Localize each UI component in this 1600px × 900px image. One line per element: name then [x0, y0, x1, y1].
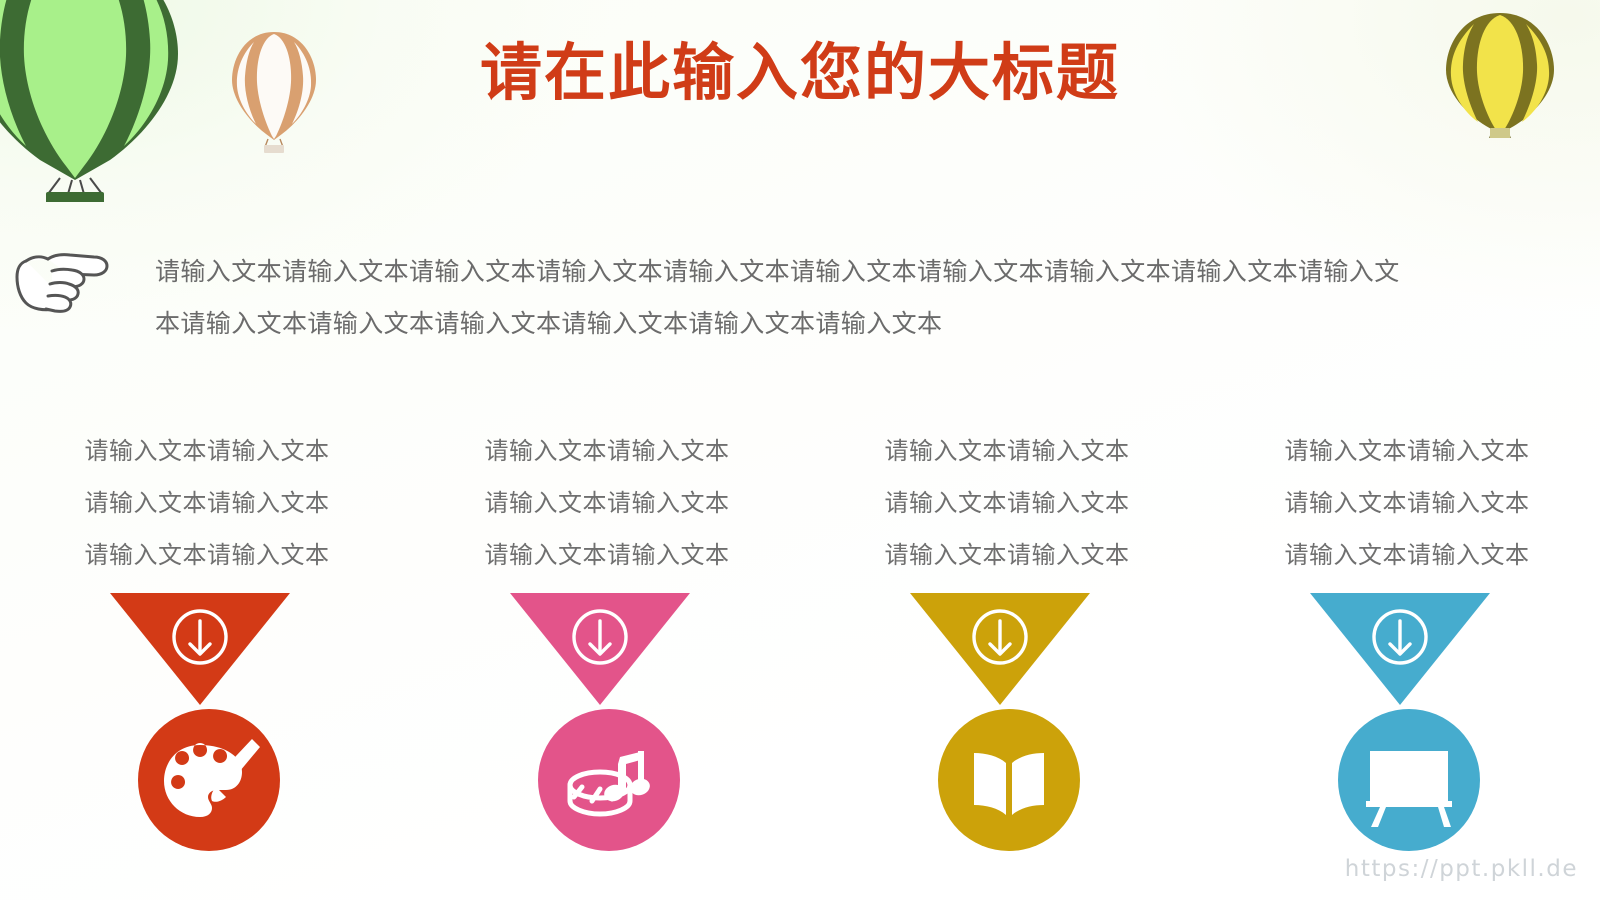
column-4-triangle[interactable] — [1310, 593, 1490, 705]
column-1-line-3: 请输入文本请输入文本 — [0, 529, 400, 581]
content-column-3[interactable]: 请输入文本请输入文本 请输入文本请输入文本 请输入文本请输入文本 — [800, 425, 1200, 865]
column-3-graphics — [910, 593, 1090, 853]
content-column-4[interactable]: 请输入文本请输入文本 请输入文本请输入文本 请输入文本请输入文本 — [1200, 425, 1600, 865]
column-2-graphics — [510, 593, 690, 853]
column-4-line-3: 请输入文本请输入文本 — [1200, 529, 1600, 581]
column-2-line-1: 请输入文本请输入文本 — [400, 425, 800, 477]
content-columns: 请输入文本请输入文本 请输入文本请输入文本 请输入文本请输入文本 — [0, 425, 1600, 865]
column-1-graphics — [110, 593, 290, 853]
content-column-2[interactable]: 请输入文本请输入文本 请输入文本请输入文本 请输入文本请输入文本 — [400, 425, 800, 865]
column-4-line-2: 请输入文本请输入文本 — [1200, 477, 1600, 529]
pointing-hand-icon — [8, 243, 112, 318]
watermark-url: https://ppt.pkll.de — [1345, 856, 1578, 882]
column-2-line-3: 请输入文本请输入文本 — [400, 529, 800, 581]
column-3-line-2: 请输入文本请输入文本 — [800, 477, 1200, 529]
column-4-circle[interactable] — [1338, 709, 1480, 851]
column-1-circle[interactable] — [138, 709, 280, 851]
column-3-circle[interactable] — [938, 709, 1080, 851]
column-4-graphics — [1310, 593, 1490, 853]
page-title: 请在此输入您的大标题 — [0, 42, 1600, 104]
content-column-1[interactable]: 请输入文本请输入文本 请输入文本请输入文本 请输入文本请输入文本 — [0, 425, 400, 865]
intro-paragraph: 请输入文本请输入文本请输入文本请输入文本请输入文本请输入文本请输入文本请输入文本… — [155, 246, 1405, 350]
column-1-line-1: 请输入文本请输入文本 — [0, 425, 400, 477]
column-3-triangle[interactable] — [910, 593, 1090, 705]
column-2-circle[interactable] — [538, 709, 680, 851]
column-2-line-2: 请输入文本请输入文本 — [400, 477, 800, 529]
presentation-slide: 请在此输入您的大标题 请输入文本请输入文本请输入文本请输入文本请输入文本请输入文… — [0, 0, 1600, 900]
column-3-line-1: 请输入文本请输入文本 — [800, 425, 1200, 477]
column-2-triangle[interactable] — [510, 593, 690, 705]
column-4-line-1: 请输入文本请输入文本 — [1200, 425, 1600, 477]
column-1-triangle[interactable] — [110, 593, 290, 705]
column-1-line-2: 请输入文本请输入文本 — [0, 477, 400, 529]
column-3-line-3: 请输入文本请输入文本 — [800, 529, 1200, 581]
